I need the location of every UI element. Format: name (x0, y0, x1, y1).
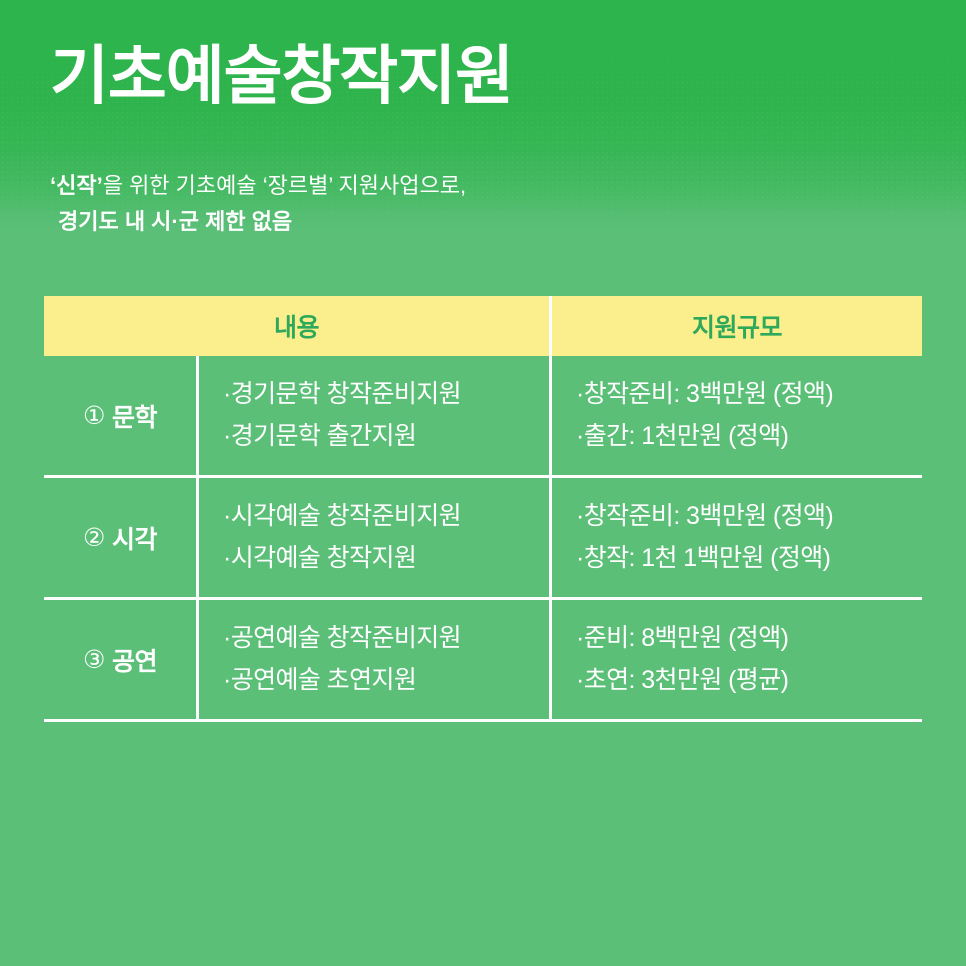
list-item: ·창작준비: 3백만원 (정액) (576, 496, 922, 538)
row-number-icon: ① (83, 401, 105, 431)
column-header-content: 내용 (44, 296, 552, 356)
row-scale-cell: ·창작준비: 3백만원 (정액) ·출간: 1천만원 (정액) (552, 356, 922, 475)
list-item: ·시각예술 창작준비지원 (223, 496, 549, 538)
list-item: ·공연예술 초연지원 (223, 660, 549, 702)
list-item: ·경기문학 출간지원 (223, 416, 549, 458)
row-number-icon: ② (83, 523, 105, 553)
row-number-icon: ③ (83, 645, 105, 675)
row-content-cell: ·공연예술 창작준비지원 ·공연예술 초연지원 (199, 600, 552, 719)
row-category-label: 문학 (112, 398, 157, 434)
row-category-performance: ③공연 (44, 600, 199, 719)
list-item: ·창작준비: 3백만원 (정액) (576, 374, 922, 416)
list-item: ·시각예술 창작지원 (223, 538, 549, 580)
list-item: ·공연예술 창작준비지원 (223, 618, 549, 660)
list-item: ·초연: 3천만원 (평균) (576, 660, 922, 702)
row-scale-cell: ·창작준비: 3백만원 (정액) ·창작: 1천 1백만원 (정액) (552, 478, 922, 597)
row-content-cell: ·경기문학 창작준비지원 ·경기문학 출간지원 (199, 356, 552, 475)
table-header-row: 내용 지원규모 (44, 296, 922, 356)
poster-canvas: 기초예술창작지원 ‘신작’을 위한 기초예술 ‘장르별’ 지원사업으로, 경기도… (0, 0, 966, 966)
page-subtitle: ‘신작’을 위한 기초예술 ‘장르별’ 지원사업으로, 경기도 내 시·군 제한… (50, 168, 466, 239)
list-item: ·출간: 1천만원 (정액) (576, 416, 922, 458)
list-item: ·준비: 8백만원 (정액) (576, 618, 922, 660)
list-item: ·창작: 1천 1백만원 (정액) (576, 538, 922, 580)
subtitle-line-1: ‘신작’을 위한 기초예술 ‘장르별’ 지원사업으로, (50, 173, 466, 198)
row-category-label: 시각 (112, 520, 157, 556)
column-header-scale: 지원규모 (552, 296, 922, 356)
subtitle-highlight: ‘신작’ (50, 173, 103, 198)
support-program-table: 내용 지원규모 ①문학 ·경기문학 창작준비지원 ·경기문학 출간지원 ·창작준… (44, 296, 922, 722)
row-category-visual: ②시각 (44, 478, 199, 597)
table-row: ①문학 ·경기문학 창작준비지원 ·경기문학 출간지원 ·창작준비: 3백만원 … (44, 356, 922, 478)
subtitle-line-1-rest: 을 위한 기초예술 ‘장르별’ 지원사업으로, (103, 173, 466, 198)
row-scale-cell: ·준비: 8백만원 (정액) ·초연: 3천만원 (평균) (552, 600, 922, 719)
row-category-literature: ①문학 (44, 356, 199, 475)
table-row: ②시각 ·시각예술 창작준비지원 ·시각예술 창작지원 ·창작준비: 3백만원 … (44, 478, 922, 600)
subtitle-line-2: 경기도 내 시·군 제한 없음 (50, 204, 466, 240)
row-content-cell: ·시각예술 창작준비지원 ·시각예술 창작지원 (199, 478, 552, 597)
row-category-label: 공연 (112, 642, 157, 678)
table-row: ③공연 ·공연예술 창작준비지원 ·공연예술 초연지원 ·준비: 8백만원 (정… (44, 600, 922, 722)
list-item: ·경기문학 창작준비지원 (223, 374, 549, 416)
page-title: 기초예술창작지원 (50, 40, 513, 114)
